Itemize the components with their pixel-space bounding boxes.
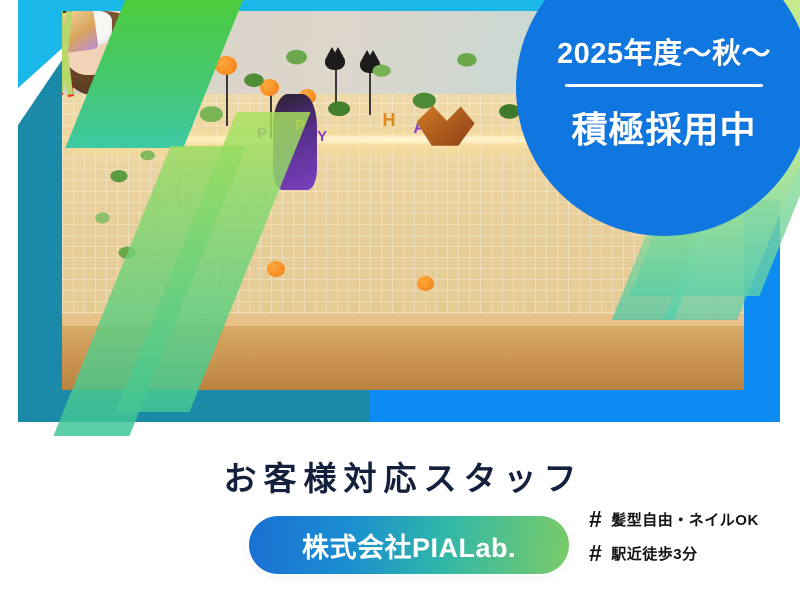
hash-icon: # (589, 508, 602, 531)
company-name-label: 株式会社PIALab. (302, 526, 516, 565)
badge-hiring-label: 積極採用中 (571, 101, 756, 153)
pumpkin-prop (417, 276, 434, 291)
recruitment-poster: D P P Y H A (0, 0, 800, 600)
feature-tag-label: 髪型自由・ネイルOK (611, 509, 759, 530)
photo-frame-left-bottom-border (18, 60, 62, 422)
feature-tag-list: # 髪型自由・ネイルOK # 駅近徒歩3分 (589, 508, 759, 565)
photo-frame-bottom-right-border (370, 390, 780, 422)
feature-tag: # 駅近徒歩3分 (589, 542, 759, 565)
company-name-pill[interactable]: 株式会社PIALab. (249, 516, 569, 574)
badge-year-label: 2025年度～秋～ (557, 30, 771, 72)
feature-tag-label: 駅近徒歩3分 (611, 543, 697, 564)
hash-icon: # (589, 542, 602, 565)
job-title: お客様対応スタッフ (0, 452, 800, 500)
badge-divider-line (565, 84, 763, 87)
feature-tag: # 髪型自由・ネイルOK (589, 508, 759, 531)
